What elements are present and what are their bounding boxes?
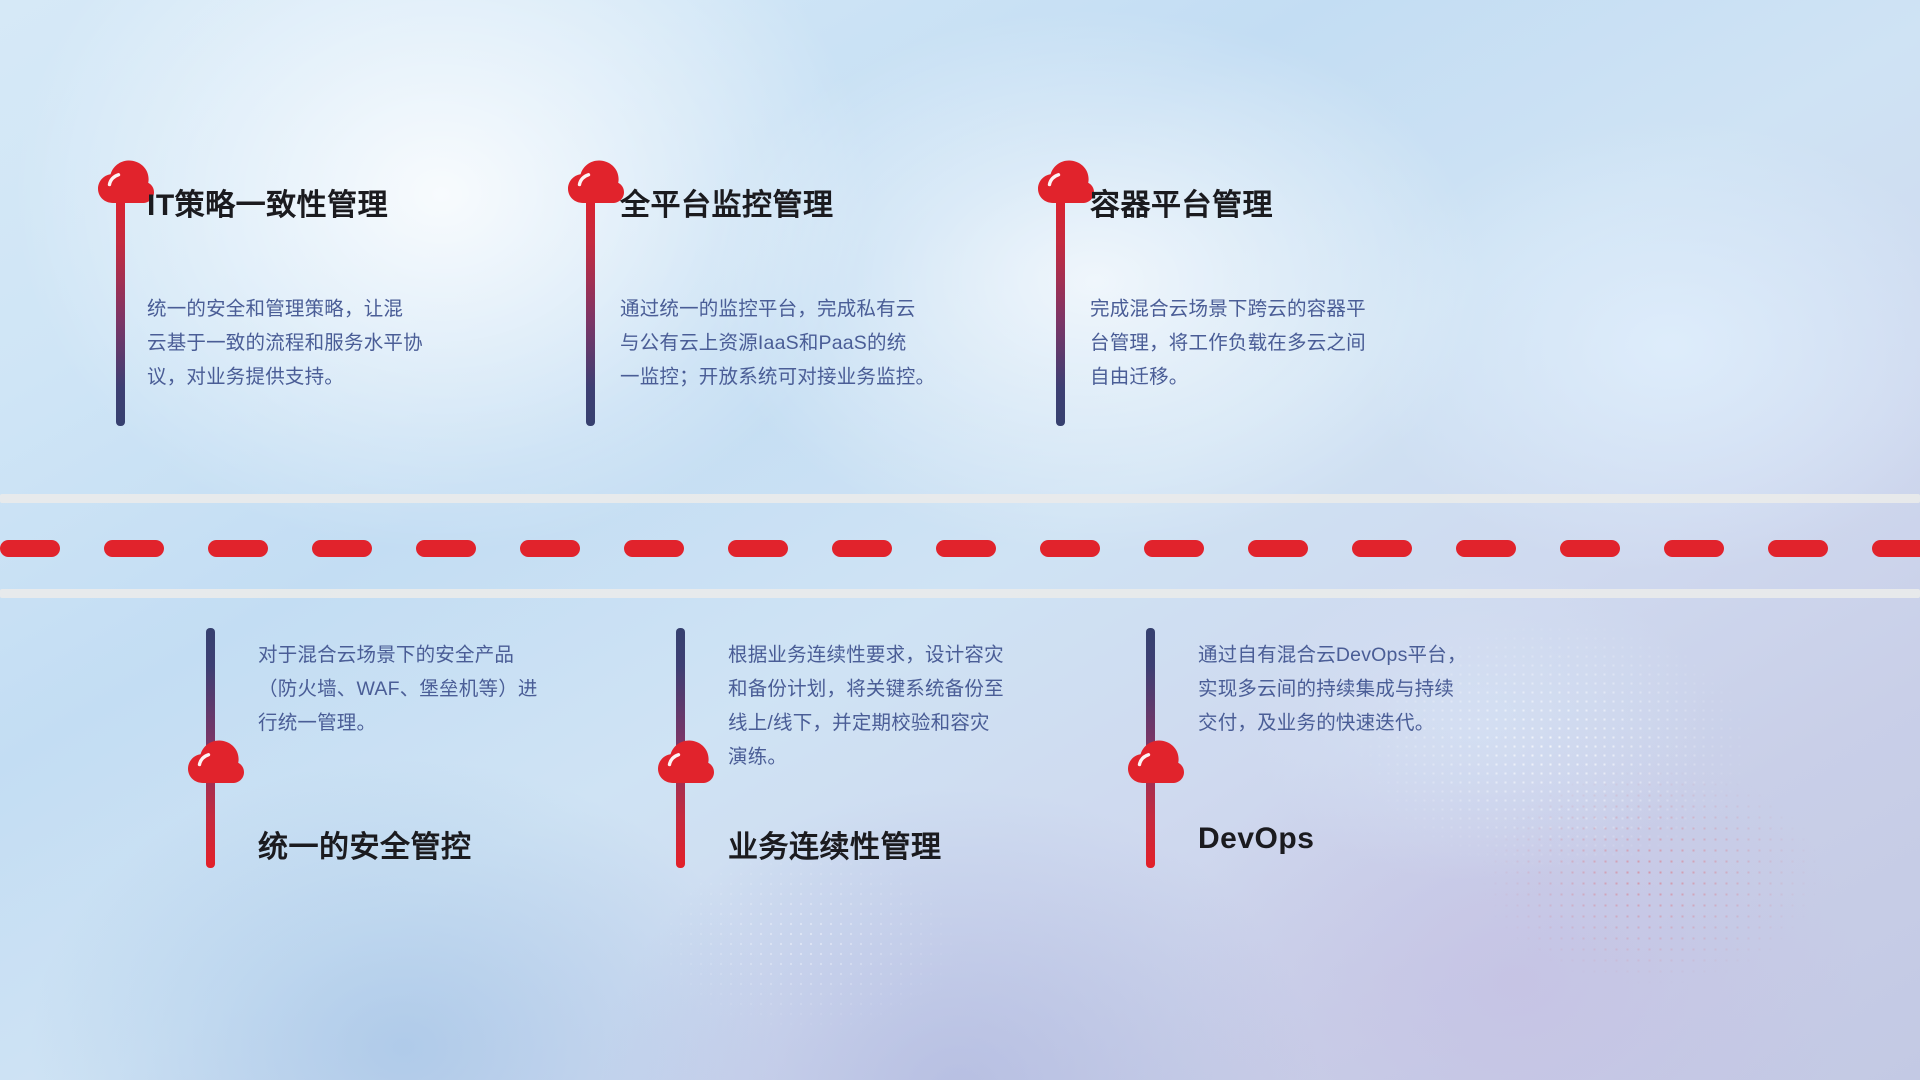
background-dot-texture-red [1402,713,1901,1037]
card-body: 根据业务连续性要求，设计容灾 和备份计划，将关键系统备份至 线上/线下，并定期校… [728,638,1088,774]
cloud-icon [1126,740,1186,784]
card-heading: 统一的安全管控 [258,822,472,866]
card-heading: 全平台监控管理 [620,180,834,224]
road-line-top [0,494,1920,503]
road-dash [832,540,892,557]
road-dash [416,540,476,557]
road-dash [1768,540,1828,557]
road-dash [1560,540,1620,557]
road-dash [0,540,60,557]
cloud-icon [1036,160,1096,204]
card-body: 完成混合云场景下跨云的容器平 台管理，将工作负载在多云之间 自由迁移。 [1090,292,1460,394]
road-dash [1248,540,1308,557]
road-dashed-center-line [0,540,1920,557]
card-body: 通过自有混合云DevOps平台， 实现多云间的持续集成与持续 交付，及业务的快速… [1198,638,1558,740]
card-body: 通过统一的监控平台，完成私有云 与公有云上资源IaaS和PaaS的统 一监控；开… [620,292,1000,394]
road-dash [208,540,268,557]
road-dash [1040,540,1100,557]
card-body: 对于混合云场景下的安全产品 （防火墙、WAF、堡垒机等）进 行统一管理。 [258,638,618,740]
road-dash [1664,540,1724,557]
cloud-icon [656,740,716,784]
road-dash [728,540,788,557]
cloud-icon [186,740,246,784]
card-heading: IT策略一致性管理 [147,180,388,224]
card-heading: DevOps [1198,822,1314,856]
road-dash [624,540,684,557]
card-body: 统一的安全和管理策略，让混 云基于一致的流程和服务水平协 议，对业务提供支持。 [147,292,507,394]
road-dash [312,540,372,557]
road-dash [1872,540,1920,557]
road-line-bottom [0,589,1920,598]
road-dash [936,540,996,557]
road-dash [520,540,580,557]
card-heading: 容器平台管理 [1090,180,1273,224]
road-dash [1352,540,1412,557]
road-dash [1456,540,1516,557]
road-dash [104,540,164,557]
card-heading: 业务连续性管理 [728,822,942,866]
cloud-icon [566,160,626,204]
road-dash [1144,540,1204,557]
